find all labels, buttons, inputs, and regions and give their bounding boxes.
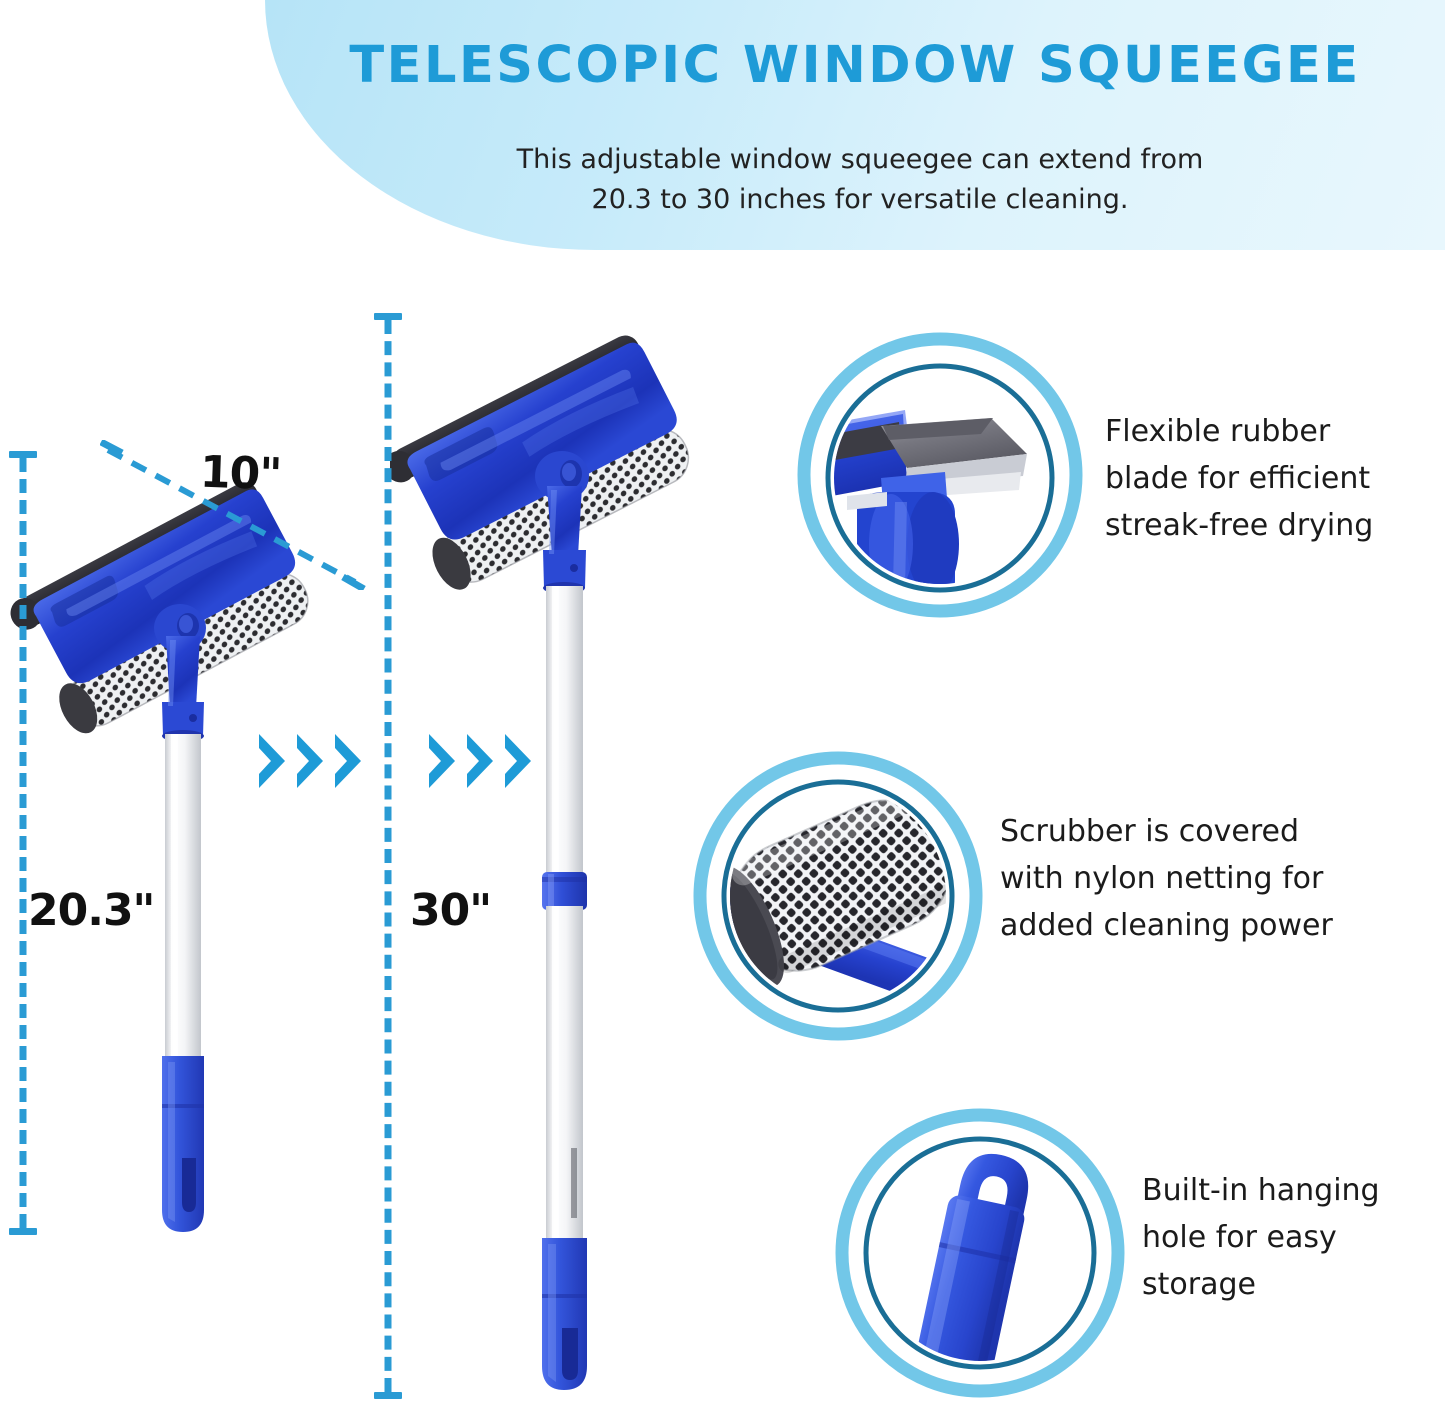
header-subtitle-line-1: This adjustable window squeegee can exte… xyxy=(517,144,1204,175)
callout-line-1: Flexible rubber xyxy=(1105,408,1373,455)
feature-callout-hanging-hole: Built-in hanging hole for easy storage xyxy=(832,1105,1445,1400)
callout-line-3: added cleaning power xyxy=(1000,902,1333,949)
page-title: TELESCOPIC WINDOW SQUEEGEE xyxy=(265,36,1445,95)
nylon-scrubber-icon xyxy=(690,748,985,1043)
rubber-blade-icon xyxy=(795,330,1085,620)
dimension-cap-bottom xyxy=(374,1392,402,1399)
chevron-right-icon xyxy=(425,730,461,792)
handle-neck xyxy=(543,486,586,594)
dimension-label-extended: 30" xyxy=(410,885,491,936)
feature-callout-text: Flexible rubber blade for efficient stre… xyxy=(1105,408,1373,549)
telescoping-collar xyxy=(542,872,587,910)
product-image-collapsed-squeegee xyxy=(10,440,350,1240)
product-image-extended-squeegee xyxy=(390,300,720,1405)
chevron-right-icon xyxy=(331,730,367,792)
dimension-line-collapsed-height xyxy=(8,448,38,1238)
callout-line-3: streak-free drying xyxy=(1105,502,1373,549)
header-subtitle: This adjustable window squeegee can exte… xyxy=(400,140,1320,220)
end-cap-hanging-hole xyxy=(162,1056,204,1232)
feature-callout-scrubber: Scrubber is covered with nylon netting f… xyxy=(690,748,1445,1043)
dimension-label-collapsed: 20.3" xyxy=(28,885,154,936)
feature-callout-rubber-blade: Flexible rubber blade for efficient stre… xyxy=(795,330,1445,620)
callout-line-2: blade for efficient xyxy=(1105,455,1373,502)
chevron-right-icon xyxy=(501,730,537,792)
callout-line-1: Built-in hanging xyxy=(1142,1167,1380,1214)
callout-line-3: storage xyxy=(1142,1261,1380,1308)
callout-line-1: Scrubber is covered xyxy=(1000,808,1333,855)
callout-line-2: hole for easy xyxy=(1142,1214,1380,1261)
chevron-arrow-group-left xyxy=(255,730,367,792)
callout-line-2: with nylon netting for xyxy=(1000,855,1333,902)
chevron-arrow-group-right xyxy=(425,730,537,792)
header-subtitle-line-2: 20.3 to 30 inches for versatile cleaning… xyxy=(400,180,1320,220)
dimension-cap-top xyxy=(374,313,402,320)
feature-callout-text: Scrubber is covered with nylon netting f… xyxy=(1000,808,1333,949)
dimension-cap-bottom xyxy=(9,1228,37,1235)
telescoping-pole-lower xyxy=(546,906,583,1244)
dimension-cap-top xyxy=(9,451,37,458)
hanging-hole-icon xyxy=(832,1105,1127,1400)
chevron-right-icon xyxy=(293,730,329,792)
feature-callout-text: Built-in hanging hole for easy storage xyxy=(1142,1167,1380,1308)
telescoping-pole-upper xyxy=(546,586,583,880)
dimension-shaft xyxy=(20,458,27,1228)
dimension-line-extended-height xyxy=(373,310,403,1402)
chevron-right-icon xyxy=(255,730,291,792)
dimension-shaft xyxy=(385,320,392,1392)
chevron-right-icon xyxy=(463,730,499,792)
telescoping-pole xyxy=(165,734,201,1060)
end-cap-hanging-hole xyxy=(542,1238,587,1390)
dimension-label-width: 10" xyxy=(199,447,282,501)
